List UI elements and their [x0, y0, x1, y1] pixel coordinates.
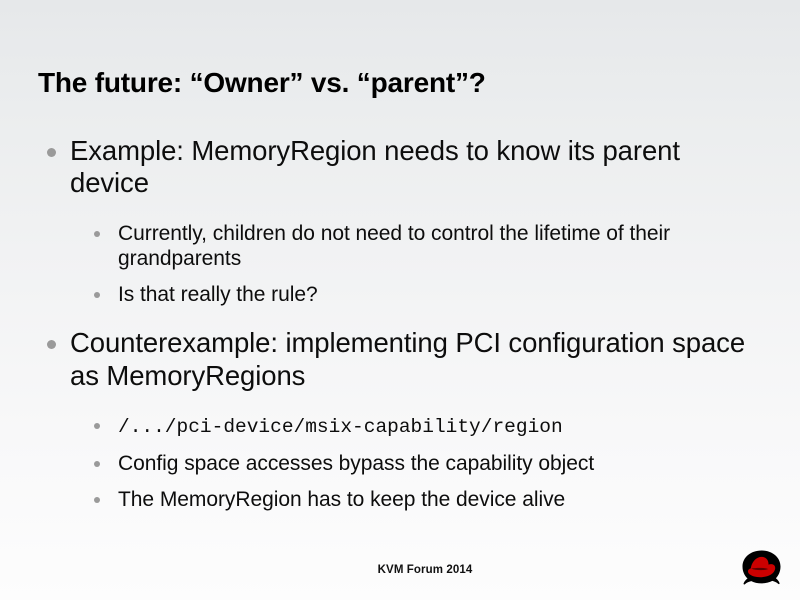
bullet-text: Counterexample: implementing PCI configu… — [70, 327, 745, 390]
bullet-marker-icon — [94, 497, 100, 503]
spacer — [38, 396, 762, 413]
bullet-marker-icon — [94, 423, 100, 429]
bullet-text: Example: MemoryRegion needs to know its … — [70, 135, 680, 198]
spacer — [38, 476, 762, 487]
bullet-level1: Example: MemoryRegion needs to know its … — [38, 135, 762, 200]
slide-body-content: Example: MemoryRegion needs to know its … — [38, 135, 762, 512]
spacer — [38, 204, 762, 221]
slide-footer: KVM Forum 2014 — [0, 564, 800, 576]
bullet-text: Config space accesses bypass the capabil… — [118, 452, 594, 475]
bullet-marker-icon — [94, 461, 100, 467]
spacer — [38, 307, 762, 327]
presentation-slide: The future: “Owner” vs. “parent”? Exampl… — [0, 0, 800, 600]
bullet-marker-icon — [47, 148, 56, 157]
page-title: The future: “Owner” vs. “parent”? — [38, 67, 758, 99]
bullet-marker-icon — [94, 292, 100, 298]
red-hat-shadowman-logo — [734, 546, 788, 594]
bullet-level2: Is that really the rule? — [80, 282, 762, 307]
spacer — [38, 271, 762, 282]
bullet-level2: Currently, children do not need to contr… — [80, 221, 762, 271]
spacer — [38, 440, 762, 451]
bullet-text: Currently, children do not need to contr… — [118, 222, 670, 270]
bullet-level1: Counterexample: implementing PCI configu… — [38, 327, 762, 392]
bullet-text: The MemoryRegion has to keep the device … — [118, 488, 565, 511]
bullet-text-code: /.../pci-device/msix-capability/region — [118, 416, 563, 438]
bullet-marker-icon — [47, 340, 56, 349]
bullet-level2: The MemoryRegion has to keep the device … — [80, 487, 762, 512]
bullet-level2-code: /.../pci-device/msix-capability/region — [80, 413, 762, 439]
bullet-level2: Config space accesses bypass the capabil… — [80, 451, 762, 476]
bullet-marker-icon — [94, 231, 100, 237]
bullet-text: Is that really the rule? — [118, 283, 318, 306]
